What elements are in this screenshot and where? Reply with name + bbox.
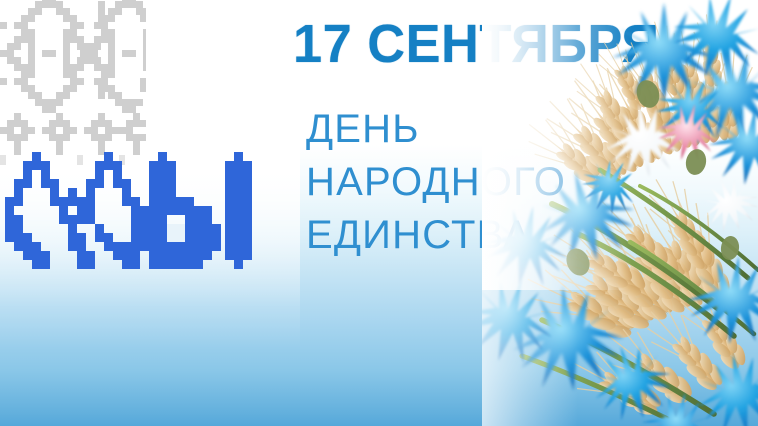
subtitle-line-2: НАРОДНОГО [306, 156, 566, 209]
logo-my-cross-stitch [4, 152, 256, 276]
subtitle-line-1: ДЕНЬ [306, 103, 566, 156]
national-unity-day-banner: 17 СЕНТЯБРЯ ДЕНЬ НАРОДНОГО ЕДИНСТВА [0, 0, 758, 426]
subtitle-block: ДЕНЬ НАРОДНОГО ЕДИНСТВА [306, 103, 566, 263]
page-title-date: 17 СЕНТЯБРЯ [293, 17, 660, 71]
belarusian-ornament-pattern [0, 0, 146, 172]
subtitle-line-3: ЕДИНСТВА [306, 209, 566, 262]
